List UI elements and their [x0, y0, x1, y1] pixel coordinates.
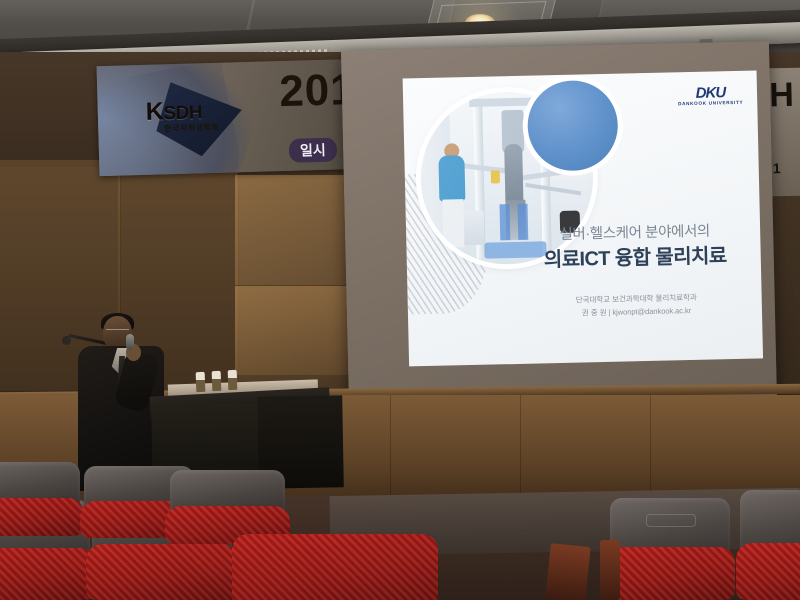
photo-patient: [504, 144, 523, 206]
water-bottle: [212, 371, 222, 391]
photo-blue-support: [499, 204, 510, 240]
handheld-microphone: [126, 334, 134, 350]
seat-cushion: [0, 548, 95, 600]
photo-yellow-part: [491, 170, 500, 183]
auditorium-seat: [240, 534, 430, 600]
microphone-head-icon: [62, 336, 71, 345]
water-bottle: [196, 372, 206, 392]
seat-cushion: [0, 498, 84, 536]
wall-panel: [520, 395, 651, 505]
conference-photo-scene: KSDH 한국치위생학회 201 일시 20 H 1: [0, 0, 800, 600]
seat-detail: [646, 514, 696, 526]
seat-cushion: [86, 544, 237, 600]
auditorium-seat: [740, 490, 800, 600]
photo-therapist-legs: [442, 199, 464, 247]
water-bottle: [228, 370, 238, 390]
ksdh-letter-k: K: [145, 97, 163, 125]
auditorium-seat: [170, 470, 285, 544]
ksdh-letters-sdh: SDH: [163, 102, 202, 124]
auditorium-seat: [610, 498, 730, 600]
seat-cushion: [736, 543, 800, 600]
dku-full-name: DANKOOK UNIVERSITY: [678, 100, 743, 106]
seat-cushion: [605, 547, 735, 600]
dku-wordmark: DKU: [678, 85, 744, 101]
seat-cushion: [232, 534, 437, 600]
seat-armrest: [545, 543, 591, 600]
speaker-glasses: [106, 329, 129, 336]
presentation-slide: DKU DANKOOK UNIVERSITY 실버·헬스케어 분야에서의 의료I…: [403, 70, 763, 366]
ksdh-korean-name: 한국치위생학회: [164, 122, 219, 135]
secondary-banner-number: 1: [773, 160, 781, 176]
seat-armrest: [600, 540, 620, 600]
auditorium-seat: [0, 462, 80, 536]
dankook-university-logo: DKU DANKOOK UNIVERSITY: [678, 85, 744, 106]
banner-date-label: 일시: [289, 138, 337, 163]
projection-screen: DKU DANKOOK UNIVERSITY 실버·헬스케어 분야에서의 의료I…: [341, 41, 777, 411]
secondary-banner-letter: H: [769, 76, 794, 116]
slide-text-block: 실버·헬스케어 분야에서의 의료ICT 융합 물리치료 단국대학교 보건과학대학…: [527, 221, 744, 321]
slide-title-line-2: 의료ICT 융합 물리치료: [527, 242, 743, 275]
slide-blue-circle-accent: [527, 80, 619, 172]
wall-panel: [390, 395, 521, 505]
photo-therapist: [438, 155, 465, 202]
